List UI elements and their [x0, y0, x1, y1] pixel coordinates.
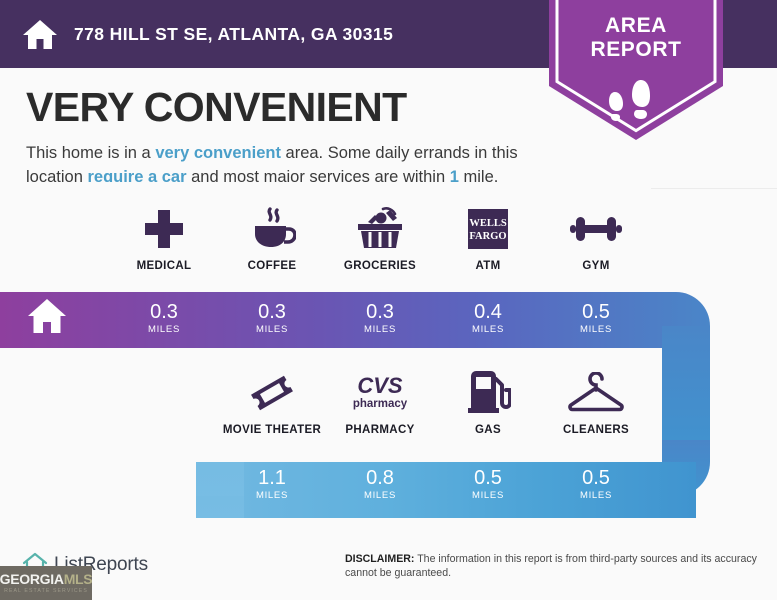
- mls-georgia-text: GEORGIA: [0, 571, 64, 587]
- medical-cross-icon: [143, 206, 185, 252]
- cvs-logo-line1: CVS: [357, 373, 403, 398]
- amenity-gas: GAS: [434, 370, 542, 436]
- amenity-label: GAS: [475, 424, 501, 436]
- amenity-coffee: COFFEE: [218, 206, 326, 272]
- amenity-label: PHARMACY: [345, 424, 414, 436]
- amenity-medical: MEDICAL: [110, 206, 218, 272]
- mls-mls-text: MLS: [64, 571, 93, 587]
- amenity-label: COFFEE: [248, 260, 297, 272]
- summary-highlight-1: very convenient: [155, 144, 281, 162]
- area-report-infographic: 778 HILL ST SE, ATLANTA, GA 30315 AREA R…: [0, 0, 777, 600]
- gas-pump-icon: [465, 370, 511, 416]
- disclaimer: DISCLAIMER: The information in this repo…: [345, 552, 760, 580]
- summary-part-1: This home is in a: [26, 144, 155, 162]
- amenity-row-2: MOVIE THEATER CVS pharmacy PHARMACY GA: [218, 370, 650, 436]
- amenity-cleaners: CLEANERS: [542, 370, 650, 436]
- movie-ticket-icon: [249, 370, 295, 416]
- amenity-label: CLEANERS: [563, 424, 629, 436]
- amenity-label: GYM: [582, 260, 609, 272]
- amenity-pharmacy: CVS pharmacy PHARMACY: [326, 370, 434, 436]
- georgia-mls-watermark: GEORGIAMLS REAL ESTATE SERVICES: [0, 566, 92, 600]
- clothes-hanger-icon: [567, 370, 625, 416]
- mls-subtitle: REAL ESTATE SERVICES: [4, 588, 88, 594]
- amenity-label: ATM: [475, 260, 500, 272]
- atm-logo-line2: FARGO: [469, 231, 506, 242]
- disclaimer-label: DISCLAIMER:: [345, 553, 414, 565]
- amenity-label: MOVIE THEATER: [223, 424, 321, 436]
- dumbbell-icon: [570, 206, 622, 252]
- amenity-atm: WELLS FARGO ATM: [434, 206, 542, 272]
- property-address: 778 HILL ST SE, ATLANTA, GA 30315: [74, 24, 393, 45]
- cvs-logo-line2: pharmacy: [353, 398, 408, 410]
- cvs-pharmacy-icon: CVS pharmacy: [347, 370, 413, 416]
- mls-wordmark: GEORGIAMLS: [0, 572, 92, 587]
- amenity-row-1: MEDICAL COFFEE: [110, 206, 650, 272]
- amenity-label: GROCERIES: [344, 260, 416, 272]
- atm-logo-line1: WELLS: [469, 218, 507, 229]
- home-icon: [22, 18, 58, 50]
- coffee-cup-icon: [248, 206, 296, 252]
- home-marker: [26, 297, 68, 340]
- area-report-badge: AREA REPORT: [549, 0, 723, 140]
- page-title: VERY CONVENIENT: [26, 84, 407, 130]
- amenity-gym: GYM: [542, 206, 650, 272]
- amenity-groceries: GROCERIES: [326, 206, 434, 272]
- amenity-movie-theater: MOVIE THEATER: [218, 370, 326, 436]
- grocery-basket-icon: [355, 206, 405, 252]
- wells-fargo-atm-icon: WELLS FARGO: [465, 206, 511, 252]
- amenity-label: MEDICAL: [137, 260, 192, 272]
- header-content: 778 HILL ST SE, ATLANTA, GA 30315: [22, 0, 393, 68]
